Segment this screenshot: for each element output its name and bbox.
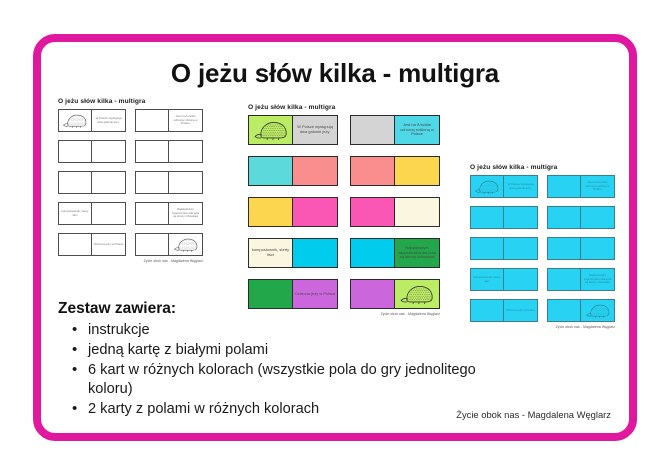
domino-tile[interactable] xyxy=(547,206,615,229)
domino-tile[interactable]: Jest na Ä›ściśle ochroną roślinną w Pols… xyxy=(135,109,203,132)
domino-cell[interactable] xyxy=(249,116,293,144)
domino-tile[interactable] xyxy=(135,233,203,256)
domino-cell-text: W Polsce występują dwa gatunki jeży. xyxy=(92,117,125,124)
card-row: W Polsce występują dwa gatunki jeży.Jest… xyxy=(470,175,615,198)
domino-cell[interactable] xyxy=(249,157,293,185)
contents-item: 2 karty z polami w różnych kolorach xyxy=(88,400,478,419)
card-row xyxy=(58,140,203,163)
card-row: kompostownik, sterty liściNajwiększym za… xyxy=(248,238,440,268)
domino-cell[interactable] xyxy=(351,116,395,144)
domino-cell[interactable]: kompostownik, sterty liści xyxy=(249,239,293,267)
domino-tile[interactable]: W Polsce występują dwa gatunki jeży. xyxy=(58,109,126,132)
domino-cell[interactable]: W Polsce występują dwa gatunki jeży. xyxy=(92,110,125,131)
preview-card-header: O jeżu słów kilka - multigra xyxy=(470,164,615,171)
preview-card-header: O jeżu słów kilka - multigra xyxy=(58,98,203,105)
hedgehog-icon xyxy=(474,178,500,195)
preview-card-header: O jeżu słów kilka - multigra xyxy=(248,104,440,111)
domino-cell[interactable] xyxy=(169,234,202,255)
domino-cell[interactable] xyxy=(581,300,614,321)
domino-tile[interactable]: kompostownik, sterty liści xyxy=(248,238,338,268)
domino-cell[interactable] xyxy=(59,172,92,193)
domino-tile[interactable]: Jest na Ä›ściśle ochroną roślinną w Pols… xyxy=(547,175,615,198)
domino-cell-text: W Polsce występują dwa gatunki jeży. xyxy=(293,125,337,134)
domino-cell[interactable] xyxy=(92,172,125,193)
domino-tile[interactable]: Ochrona jeży w Polsce xyxy=(58,233,126,256)
card-row xyxy=(248,197,440,227)
domino-tile[interactable] xyxy=(547,299,615,322)
card-row xyxy=(470,206,615,229)
domino-cell[interactable] xyxy=(351,198,395,226)
domino-cell[interactable] xyxy=(504,207,537,228)
card-row xyxy=(58,171,203,194)
domino-cell[interactable] xyxy=(136,141,169,162)
domino-tile[interactable]: Największym zagrożeniem dla jeża są stro… xyxy=(547,268,615,291)
domino-cell-text: Ochrona jeży w Polsce xyxy=(93,243,124,246)
domino-cell[interactable]: W Polsce występują dwa gatunki jeży. xyxy=(293,116,337,144)
domino-cell[interactable]: Największym zagrożeniem dla jeża są stro… xyxy=(581,269,614,290)
contents-item: instrukcje xyxy=(88,321,478,340)
domino-tile[interactable]: W Polsce występują dwa gatunki jeży. xyxy=(248,115,338,145)
card-row: kompostownik, sterty liściNajwiększym za… xyxy=(470,268,615,291)
domino-cell-text: Jest na Ä›ściśle ochroną roślinną w Pols… xyxy=(395,123,439,137)
domino-cell-text: Ochrona jeży w Polsce xyxy=(294,292,337,297)
domino-tile[interactable] xyxy=(350,197,440,227)
contents-heading: Zestaw zawiera: xyxy=(58,300,478,318)
domino-tile[interactable]: kompostownik, sterty liści xyxy=(470,268,538,291)
domino-cell[interactable] xyxy=(293,157,337,185)
domino-cell[interactable]: kompostownik, sterty liści xyxy=(471,269,504,290)
domino-cell[interactable]: Największym zagrożeniem dla jeża są stro… xyxy=(169,203,202,224)
domino-tile[interactable] xyxy=(547,237,615,260)
domino-cell[interactable] xyxy=(548,269,581,290)
domino-tile[interactable] xyxy=(248,156,338,186)
footer-credit: Życie obok nas - Magdalena Węglarz xyxy=(456,409,611,420)
domino-cell[interactable] xyxy=(136,172,169,193)
hedgehog-icon xyxy=(253,118,289,142)
domino-tile[interactable]: W Polsce występują dwa gatunki jeży. xyxy=(470,175,538,198)
preview-card-colour[interactable]: O jeżu słów kilka - multigraW Polsce wys… xyxy=(248,104,440,316)
domino-cell[interactable] xyxy=(293,198,337,226)
domino-cell[interactable]: Jest na Ä›ściśle ochroną roślinną w Pols… xyxy=(581,176,614,197)
preview-card-white[interactable]: O jeżu słów kilka - multigraW Polsce wys… xyxy=(58,98,203,263)
domino-cell[interactable] xyxy=(395,157,439,185)
domino-cell[interactable]: Jest na Ä›ściśle ochroną roślinną w Pols… xyxy=(169,110,202,131)
domino-cell[interactable] xyxy=(92,141,125,162)
domino-cell[interactable]: Jest na Ä›ściśle ochroną roślinną w Pols… xyxy=(395,116,439,144)
domino-cell[interactable]: W Polsce występują dwa gatunki jeży. xyxy=(504,176,537,197)
domino-cell[interactable] xyxy=(59,141,92,162)
domino-cell[interactable] xyxy=(471,176,504,197)
domino-cell-text: W Polsce występują dwa gatunki jeży. xyxy=(504,183,537,190)
card-row: W Polsce występują dwa gatunki jeży.Jest… xyxy=(248,115,440,145)
domino-cell-text: Największym zagrożeniem dla jeża są stro… xyxy=(395,246,439,260)
domino-cell[interactable] xyxy=(249,198,293,226)
domino-tile[interactable] xyxy=(58,171,126,194)
domino-tile[interactable]: Największym zagrożeniem dla jeża są stro… xyxy=(135,202,203,225)
domino-cell[interactable] xyxy=(293,239,337,267)
card-row xyxy=(248,156,440,186)
domino-tile[interactable] xyxy=(248,197,338,227)
card-grid: W Polsce występują dwa gatunki jeży.Jest… xyxy=(470,175,615,322)
domino-cell[interactable] xyxy=(136,234,169,255)
domino-tile[interactable] xyxy=(135,140,203,163)
contents-item: jedną kartę z białymi polami xyxy=(88,341,478,360)
domino-tile[interactable] xyxy=(470,237,538,260)
domino-cell-text: kompostownik, sterty liści xyxy=(471,276,503,283)
domino-cell-text: Największym zagrożeniem dla jeża są stro… xyxy=(169,208,202,218)
card-row xyxy=(470,237,615,260)
domino-cell[interactable] xyxy=(169,141,202,162)
domino-cell[interactable] xyxy=(581,207,614,228)
hedgehog-icon xyxy=(585,302,611,319)
domino-cell-text: Ochrona jeży w Polsce xyxy=(505,309,536,312)
domino-tile[interactable]: Największym zagrożeniem dla jeża są stro… xyxy=(350,238,440,268)
domino-cell[interactable] xyxy=(92,203,125,224)
domino-cell[interactable] xyxy=(395,198,439,226)
preview-card-credit: Życie obok nas - Magdalena Węglarz xyxy=(58,259,203,263)
domino-tile[interactable]: Ochrona jeży w Polsce xyxy=(470,299,538,322)
domino-cell[interactable] xyxy=(471,238,504,259)
domino-cell[interactable]: Największym zagrożeniem dla jeża są stro… xyxy=(395,239,439,267)
hedgehog-icon xyxy=(173,236,199,253)
domino-cell[interactable] xyxy=(351,157,395,185)
domino-cell[interactable] xyxy=(136,203,169,224)
domino-cell[interactable] xyxy=(59,234,92,255)
preview-card-cyan[interactable]: O jeżu słów kilka - multigraW Polsce wys… xyxy=(470,164,615,329)
domino-cell[interactable] xyxy=(136,110,169,131)
domino-tile[interactable] xyxy=(135,171,203,194)
hedgehog-icon xyxy=(62,112,88,129)
card-row: kompostownik, sterty liściNajwiększym za… xyxy=(58,202,203,225)
domino-cell[interactable] xyxy=(504,238,537,259)
domino-tile[interactable] xyxy=(58,140,126,163)
card-row: W Polsce występują dwa gatunki jeży.Jest… xyxy=(58,109,203,132)
domino-cell[interactable] xyxy=(351,239,395,267)
domino-cell[interactable]: kompostownik, sterty liści xyxy=(59,203,92,224)
domino-cell[interactable] xyxy=(548,238,581,259)
card-grid: W Polsce występują dwa gatunki jeży.Jest… xyxy=(58,109,203,256)
domino-cell[interactable] xyxy=(504,269,537,290)
domino-tile[interactable] xyxy=(470,206,538,229)
domino-cell-text: Jest na Ä›ściśle ochroną roślinną w Pols… xyxy=(169,115,202,125)
card-row: Ochrona jeży w Polsce xyxy=(58,233,203,256)
contents-list: instrukcjejedną kartę z białymi polami6 … xyxy=(58,321,478,419)
domino-cell[interactable] xyxy=(581,238,614,259)
page-title: O jeżu słów kilka - multigra xyxy=(41,58,629,89)
domino-cell[interactable] xyxy=(548,300,581,321)
poster-frame: O jeżu słów kilka - multigra O jeżu słów… xyxy=(33,34,637,441)
domino-tile[interactable]: kompostownik, sterty liści xyxy=(58,202,126,225)
card-row: Ochrona jeży w Polsce xyxy=(470,299,615,322)
domino-cell[interactable] xyxy=(59,110,92,131)
card-grid: W Polsce występują dwa gatunki jeży.Jest… xyxy=(248,115,440,309)
domino-cell[interactable] xyxy=(169,172,202,193)
domino-tile[interactable]: Jest na Ä›ściśle ochroną roślinną w Pols… xyxy=(350,115,440,145)
domino-cell[interactable]: Ochrona jeży w Polsce xyxy=(92,234,125,255)
contents-item: 6 kart w różnych kolorach (wszystkie pol… xyxy=(88,361,478,399)
domino-cell[interactable] xyxy=(471,207,504,228)
domino-cell[interactable] xyxy=(548,176,581,197)
domino-cell-text: Jest na Ä›ściśle ochroną roślinną w Pols… xyxy=(581,181,614,191)
domino-cell-text: kompostownik, sterty liści xyxy=(59,210,91,217)
preview-card-credit: Życie obok nas - Magdalena Węglarz xyxy=(470,325,615,329)
domino-cell[interactable]: Ochrona jeży w Polsce xyxy=(504,300,537,321)
domino-cell[interactable] xyxy=(548,207,581,228)
domino-cell-text: Największym zagrożeniem dla jeża są stro… xyxy=(581,274,614,284)
contents-block: Zestaw zawiera: instrukcjejedną kartę z … xyxy=(58,300,478,420)
domino-tile[interactable] xyxy=(350,156,440,186)
domino-cell-text: kompostownik, sterty liści xyxy=(249,248,292,257)
